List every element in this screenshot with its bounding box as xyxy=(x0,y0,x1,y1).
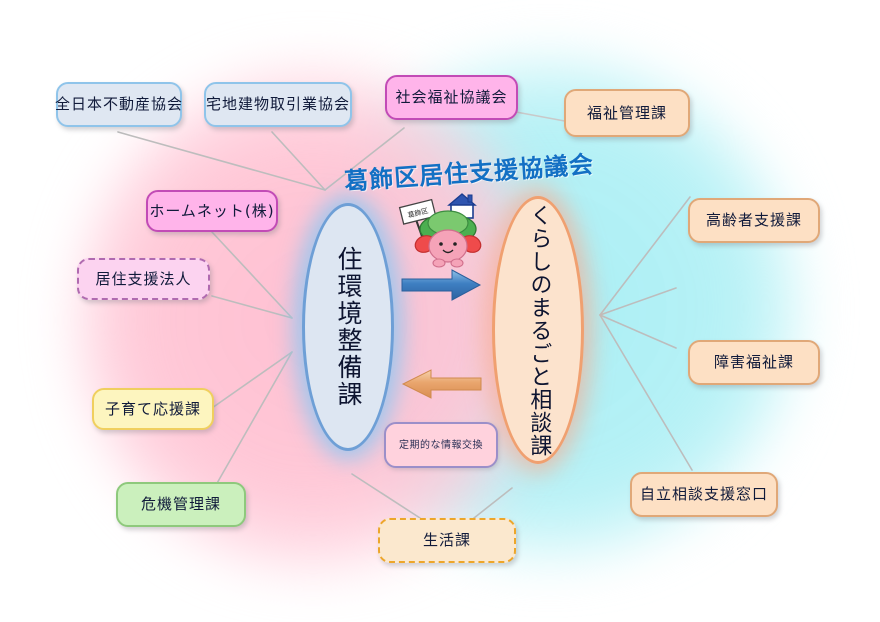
node-koreisha-shien-ka[interactable]: 高齢者支援課 xyxy=(688,198,820,243)
note-periodic-info-exchange[interactable]: 定期的な情報交換 xyxy=(384,422,498,468)
node-shogai-fukushi-ka[interactable]: 障害福祉課 xyxy=(688,340,820,385)
node-takuchi-tatemono-torihiki-kyokai[interactable]: 宅地建物取引業協会 xyxy=(204,82,352,127)
node-home-net[interactable]: ホームネット(株) xyxy=(146,190,278,232)
node-kiki-kanri-ka[interactable]: 危機管理課 xyxy=(116,482,246,527)
node-kosodate-oen-ka[interactable]: 子育て応援課 xyxy=(92,388,214,430)
left-arrow-icon xyxy=(399,368,483,400)
diagram-canvas: 住環境整備課 くらしのまるごと相談課 葛飾区居住支援協議会 葛飾区 xyxy=(0,0,880,622)
node-shakai-fukushi-kyogikai[interactable]: 社会福祉協議会 xyxy=(385,75,518,120)
ellipse-living-consultation-division[interactable]: くらしのまるごと相談課 xyxy=(492,196,584,464)
node-zennihon-fudosan-kyokai[interactable]: 全日本不動産協会 xyxy=(56,82,182,127)
node-kyoju-shien-hojin[interactable]: 居住支援法人 xyxy=(77,258,210,300)
node-fukushi-kanri-ka[interactable]: 福祉管理課 xyxy=(564,89,690,137)
katsushika-mascot: 葛飾区 xyxy=(392,192,492,270)
right-arrow-icon xyxy=(400,268,482,302)
ellipse-housing-environment-division[interactable]: 住環境整備課 xyxy=(302,203,394,451)
node-seikatsu-ka[interactable]: 生活課 xyxy=(378,518,516,563)
node-jiritsu-sodan-shien-madoguchi[interactable]: 自立相談支援窓口 xyxy=(630,472,778,517)
